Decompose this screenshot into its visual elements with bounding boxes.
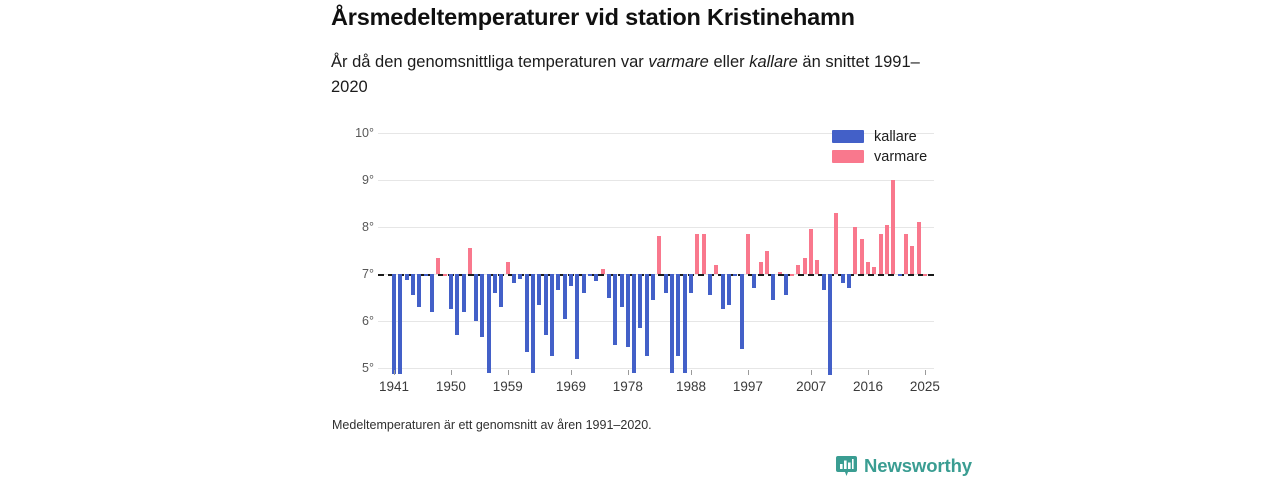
- bar-1972[interactable]: [588, 274, 592, 276]
- bar-1946[interactable]: [424, 274, 428, 276]
- x-axis-tick-label: 1941: [364, 379, 424, 394]
- bar-1956[interactable]: [487, 274, 491, 373]
- bar-2022[interactable]: [904, 234, 908, 274]
- bar-2024[interactable]: [917, 222, 921, 274]
- bar-1968[interactable]: [563, 274, 567, 319]
- bar-1948[interactable]: [436, 258, 440, 274]
- bar-2013[interactable]: [847, 274, 851, 288]
- bar-1980[interactable]: [638, 274, 642, 328]
- bar-1966[interactable]: [550, 274, 554, 356]
- bar-1976[interactable]: [613, 274, 617, 345]
- bar-1959[interactable]: [506, 262, 510, 274]
- bar-2002[interactable]: [778, 272, 782, 274]
- bar-2018[interactable]: [879, 234, 883, 274]
- bar-2008[interactable]: [815, 260, 819, 274]
- bar-1988[interactable]: [689, 274, 693, 293]
- y-axis-tick-label: 7°: [334, 268, 374, 280]
- bar-1957[interactable]: [493, 274, 497, 293]
- bar-1942[interactable]: [398, 274, 402, 374]
- y-axis-tick: 10°: [330, 127, 374, 139]
- x-axis-tick-mark: [394, 370, 395, 375]
- legend-item-kallare[interactable]: kallare: [832, 127, 927, 146]
- bar-2004[interactable]: [790, 274, 794, 276]
- bar-2017[interactable]: [872, 267, 876, 274]
- bar-2003[interactable]: [784, 274, 788, 295]
- x-axis-tick-label: 1969: [541, 379, 601, 394]
- bar-chart-logo-icon: [836, 455, 857, 477]
- bar-1979[interactable]: [632, 274, 636, 373]
- y-axis-tick: 9°: [330, 174, 374, 186]
- y-axis-tick-label: 6°: [334, 315, 374, 327]
- bar-1996[interactable]: [740, 274, 744, 349]
- bar-1958[interactable]: [499, 274, 503, 307]
- bar-1953[interactable]: [468, 248, 472, 274]
- x-axis-tick-mark: [811, 370, 812, 375]
- bar-1962[interactable]: [525, 274, 529, 352]
- bar-1950[interactable]: [449, 274, 453, 309]
- y-axis-tick: 8°: [330, 221, 374, 233]
- x-axis-tick-mark: [451, 370, 452, 375]
- y-axis-tick: 7°: [330, 268, 374, 280]
- bar-2010[interactable]: [828, 274, 832, 375]
- bar-1984[interactable]: [664, 274, 668, 293]
- bar-1961[interactable]: [518, 274, 522, 279]
- x-axis-tick-mark: [691, 370, 692, 375]
- x-axis-tick-label: 2007: [781, 379, 841, 394]
- chart-page: Årsmedeltemperaturer vid station Kristin…: [0, 0, 1280, 480]
- bar-1995[interactable]: [733, 274, 737, 276]
- x-axis-tick-mark: [628, 370, 629, 375]
- bar-2015[interactable]: [860, 239, 864, 274]
- x-axis-tick-mark: [868, 370, 869, 375]
- y-axis-tick: 6°: [330, 315, 374, 327]
- chart-plot-area: 5°6°7°8°9°10° 19411950195919691978198819…: [0, 0, 1280, 480]
- bar-2025[interactable]: [923, 274, 927, 276]
- bar-2014[interactable]: [853, 227, 857, 274]
- bar-1989[interactable]: [695, 234, 699, 274]
- bar-1954[interactable]: [474, 274, 478, 321]
- legend-swatch-icon: [832, 130, 864, 143]
- x-axis-tick-mark: [571, 370, 572, 375]
- bar-1991[interactable]: [708, 274, 712, 295]
- x-axis-tick-label: 2016: [838, 379, 898, 394]
- chart-legend: kallarevarmare: [832, 127, 927, 167]
- y-axis-tick-label: 10°: [334, 127, 374, 139]
- x-axis-tick-label: 1978: [598, 379, 658, 394]
- bar-1960[interactable]: [512, 274, 516, 283]
- bar-2023[interactable]: [910, 246, 914, 274]
- bar-1983[interactable]: [657, 236, 661, 274]
- bar-1945[interactable]: [417, 274, 421, 307]
- chart-footnote: Medeltemperaturen är ett genomsnitt av å…: [332, 418, 652, 432]
- bar-1949[interactable]: [443, 274, 447, 276]
- logo-wordmark: Newsworthy: [864, 455, 972, 477]
- x-axis-tick-label: 1988: [661, 379, 721, 394]
- bar-1997[interactable]: [746, 234, 750, 274]
- bar-1986[interactable]: [676, 274, 680, 356]
- bar-1971[interactable]: [582, 274, 586, 293]
- x-axis-tick-label: 1959: [478, 379, 538, 394]
- y-axis-tick-label: 8°: [334, 221, 374, 233]
- bar-1965[interactable]: [544, 274, 548, 335]
- legend-item-varmare[interactable]: varmare: [832, 147, 927, 166]
- bar-2019[interactable]: [885, 225, 889, 274]
- bar-2021[interactable]: [898, 274, 902, 276]
- bar-1973[interactable]: [594, 274, 598, 281]
- bar-2007[interactable]: [809, 229, 813, 274]
- x-axis-tick-mark: [748, 370, 749, 375]
- bar-2000[interactable]: [765, 251, 769, 275]
- bar-1947[interactable]: [430, 274, 434, 312]
- newsworthy-logo[interactable]: Newsworthy: [836, 455, 972, 477]
- y-axis-tick-label: 9°: [334, 174, 374, 186]
- bar-1974[interactable]: [601, 269, 605, 274]
- y-axis-tick-label: 5°: [334, 362, 374, 374]
- x-axis-tick-label: 1950: [421, 379, 481, 394]
- bar-1977[interactable]: [620, 274, 624, 307]
- bar-2020[interactable]: [891, 180, 895, 274]
- bar-1993[interactable]: [721, 274, 725, 309]
- bar-1992[interactable]: [714, 265, 718, 274]
- bar-1990[interactable]: [702, 234, 706, 274]
- bar-1955[interactable]: [480, 274, 484, 337]
- bar-2009[interactable]: [822, 274, 826, 290]
- bar-2001[interactable]: [771, 274, 775, 300]
- x-axis-tick-label: 1997: [718, 379, 778, 394]
- bar-1967[interactable]: [556, 274, 560, 290]
- x-axis-tick-mark: [508, 370, 509, 375]
- bar-1969[interactable]: [569, 274, 573, 286]
- bar-1985[interactable]: [670, 274, 674, 373]
- legend-label: varmare: [874, 149, 927, 165]
- bar-2011[interactable]: [834, 213, 838, 274]
- bar-1943[interactable]: [405, 274, 409, 280]
- bar-1978[interactable]: [626, 274, 630, 347]
- bar-1975[interactable]: [607, 274, 611, 298]
- bar-1981[interactable]: [645, 274, 649, 356]
- y-axis-tick: 5°: [330, 362, 374, 374]
- bar-2012[interactable]: [841, 274, 845, 283]
- bar-1998[interactable]: [752, 274, 756, 288]
- bar-2006[interactable]: [803, 258, 807, 274]
- bar-2016[interactable]: [866, 262, 870, 274]
- bar-1941[interactable]: [392, 274, 396, 374]
- x-axis-tick-mark: [925, 370, 926, 375]
- legend-label: kallare: [874, 129, 917, 145]
- bar-1964[interactable]: [537, 274, 541, 305]
- bar-1999[interactable]: [759, 262, 763, 274]
- bar-1994[interactable]: [727, 274, 731, 305]
- x-axis-tick-label: 2025: [895, 379, 955, 394]
- legend-swatch-icon: [832, 150, 864, 163]
- bar-1951[interactable]: [455, 274, 459, 335]
- bar-1952[interactable]: [462, 274, 466, 312]
- bar-1970[interactable]: [575, 274, 579, 359]
- bar-2005[interactable]: [796, 265, 800, 274]
- bar-1944[interactable]: [411, 274, 415, 295]
- bar-1963[interactable]: [531, 274, 535, 373]
- bar-1982[interactable]: [651, 274, 655, 300]
- bar-1987[interactable]: [683, 274, 687, 373]
